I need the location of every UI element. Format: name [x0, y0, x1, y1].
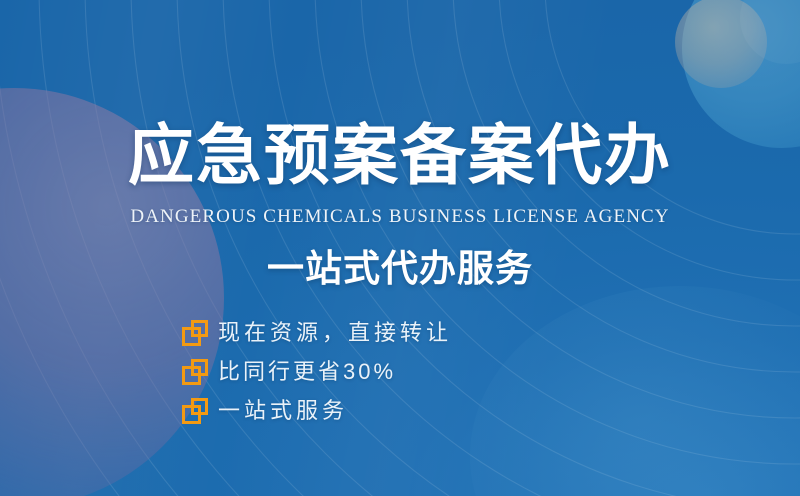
secondary-headline: 一站式代办服务: [0, 246, 800, 292]
list-item-label: 比同行更省30%: [218, 358, 396, 386]
overlapping-squares-icon: [182, 359, 208, 385]
overlapping-squares-icon: [182, 320, 208, 346]
main-headline: 应急预案备案代办: [0, 118, 800, 192]
overlapping-squares-icon: [182, 398, 208, 424]
list-item: 比同行更省30%: [182, 357, 452, 387]
banner-content: 应急预案备案代办 DANGEROUS CHEMICALS BUSINESS LI…: [0, 0, 800, 496]
feature-list: 现在资源，直接转让 比同行更省30% 一站式服务: [182, 318, 452, 426]
list-item: 现在资源，直接转让: [182, 318, 452, 348]
list-item-label: 现在资源，直接转让: [218, 319, 452, 347]
list-item: 一站式服务: [182, 396, 452, 426]
list-item-label: 一站式服务: [218, 397, 348, 425]
english-subtitle: DANGEROUS CHEMICALS BUSINESS LICENSE AGE…: [0, 205, 800, 229]
promotional-banner: 应急预案备案代办 DANGEROUS CHEMICALS BUSINESS LI…: [0, 0, 800, 496]
